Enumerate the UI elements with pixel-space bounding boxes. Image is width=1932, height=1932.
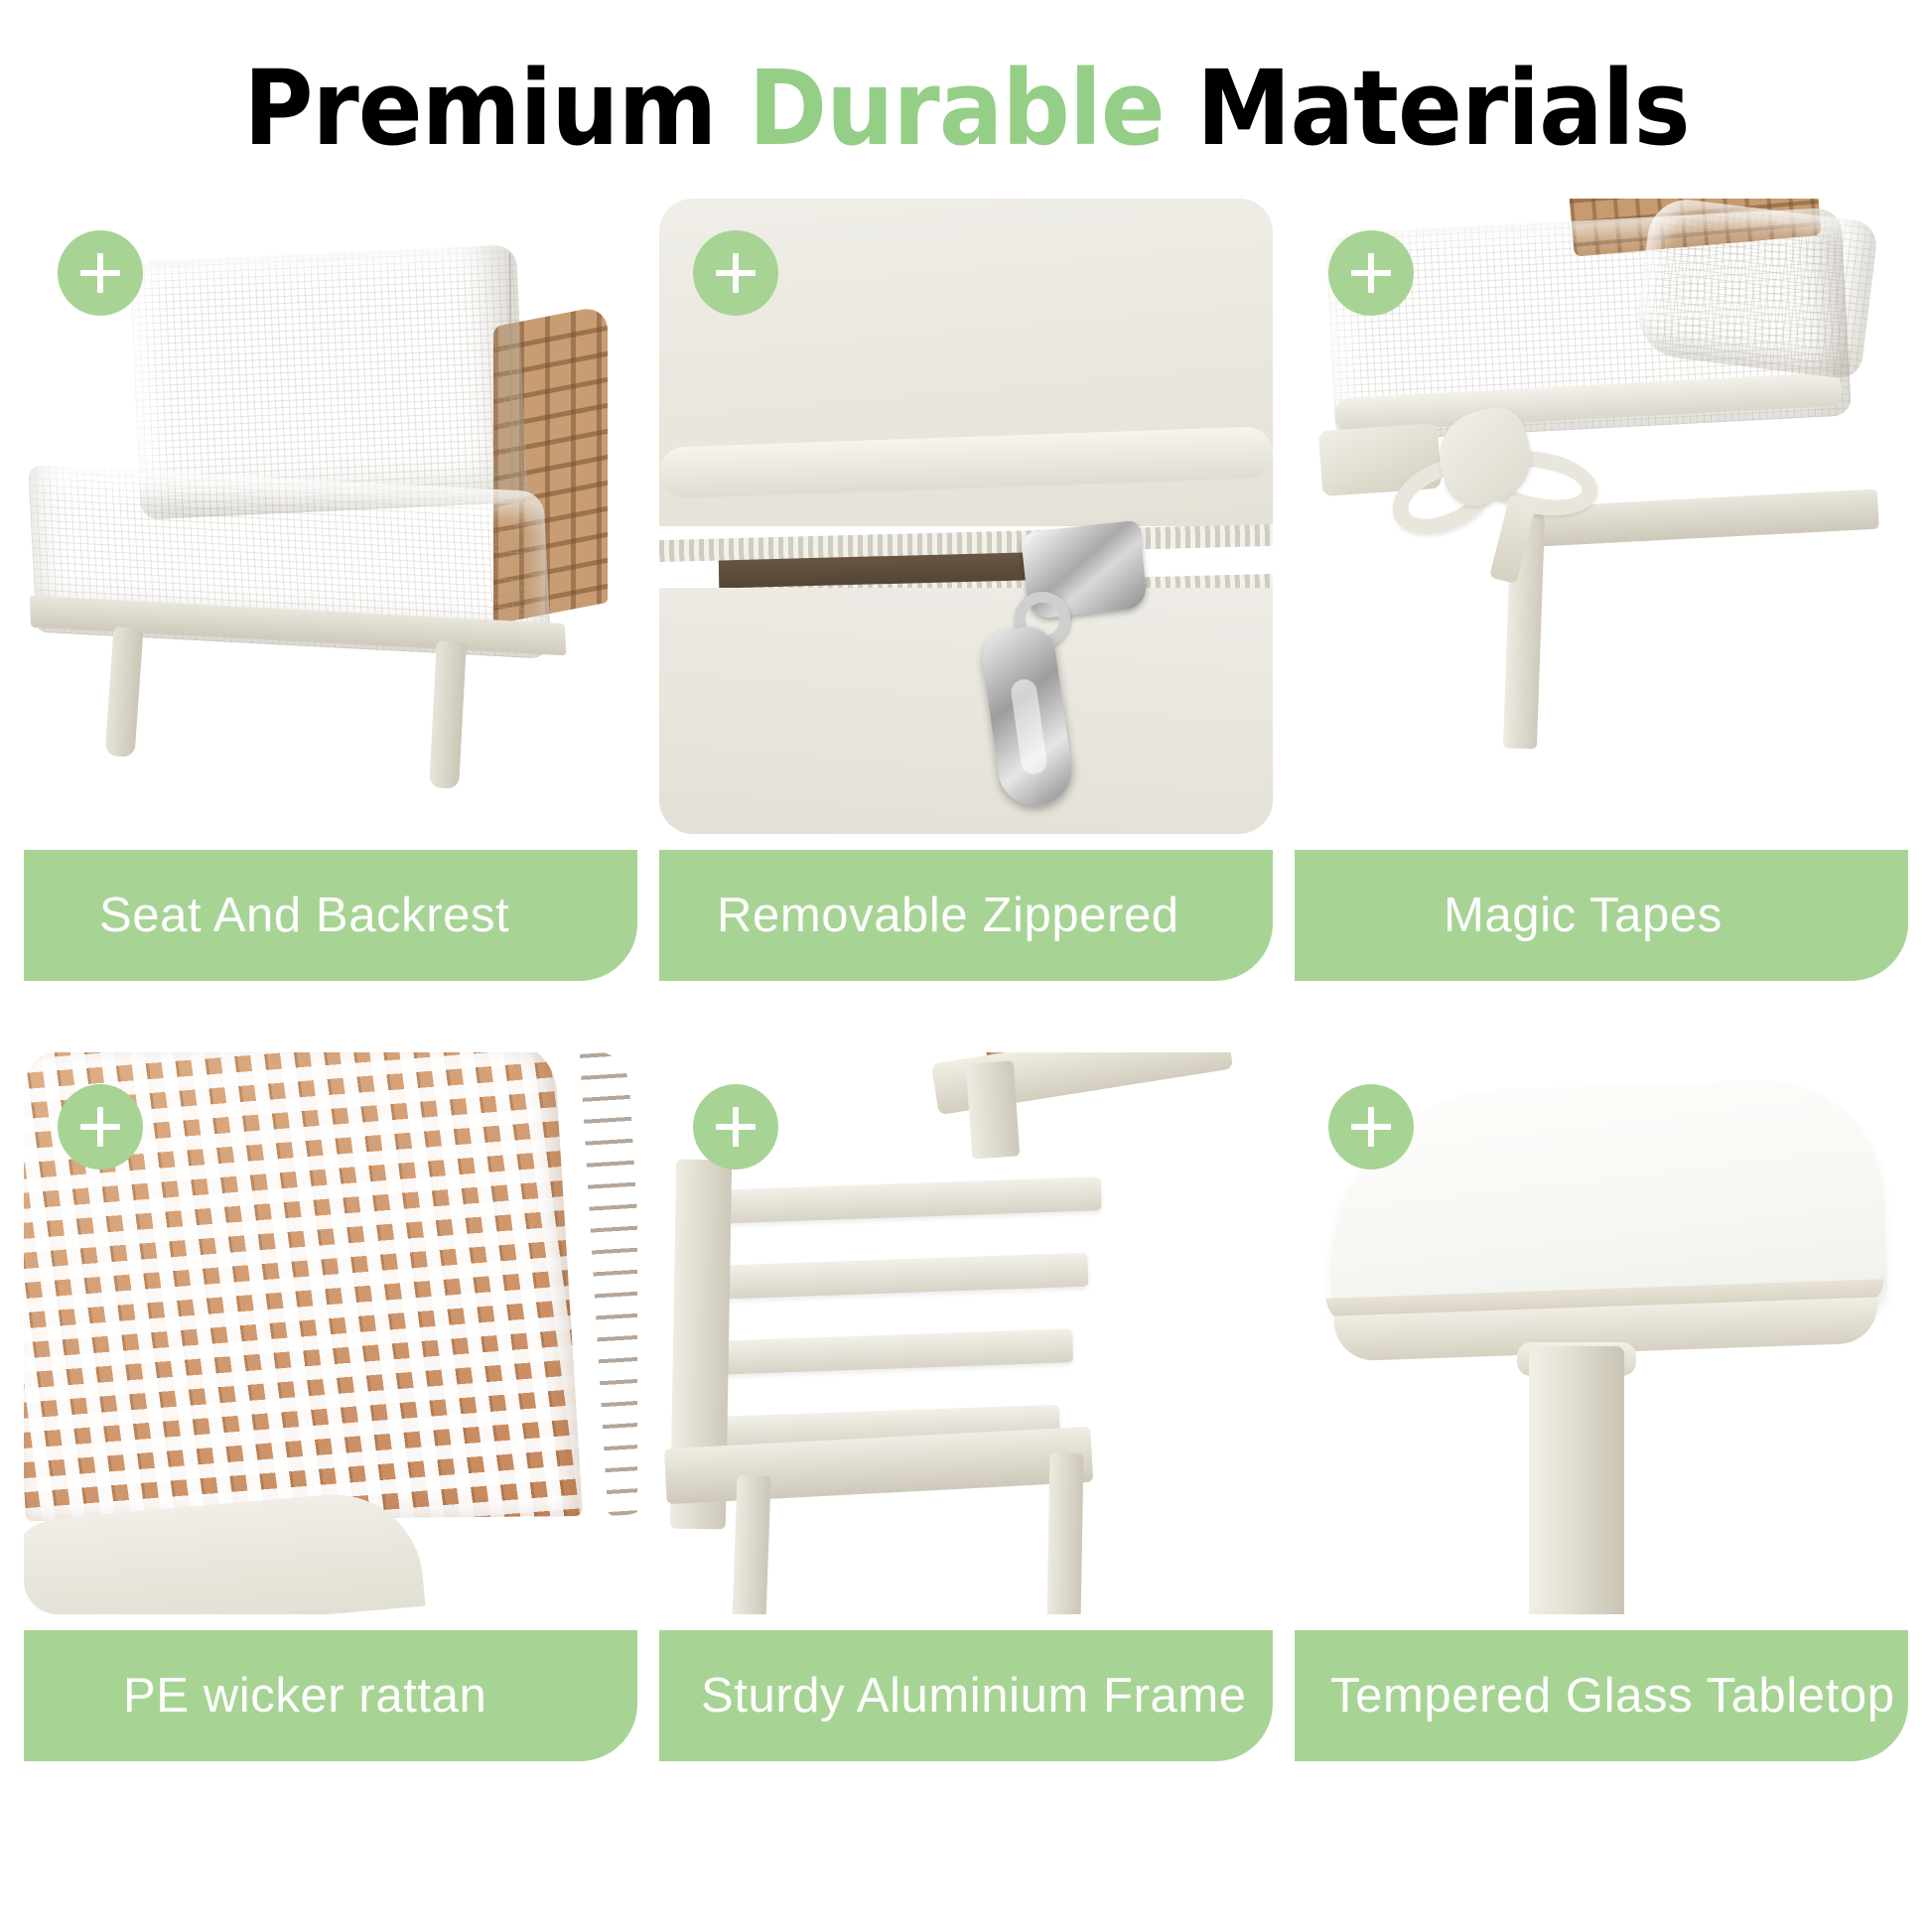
- frame-slat: [680, 1253, 1088, 1301]
- title-highlight: Durable: [748, 48, 1164, 169]
- wicker-edge-trim: [580, 1052, 637, 1516]
- caption-label: Removable Zippered: [717, 888, 1179, 943]
- cushion-seam: [508, 253, 513, 491]
- caption-label: Magic Tapes: [1444, 888, 1723, 943]
- plus-icon[interactable]: [693, 230, 778, 316]
- frame-slat: [684, 1176, 1102, 1225]
- frame-leg-right: [429, 640, 467, 788]
- photo-tempered-glass-tabletop[interactable]: [1295, 1052, 1908, 1614]
- caption-bar-seat-and-backrest: Seat And Backrest: [24, 850, 637, 981]
- photo-removable-zippered[interactable]: [659, 199, 1273, 834]
- caption-bar-magic-tapes: Magic Tapes: [1295, 850, 1908, 981]
- caption-bar-sturdy-aluminium-frame: Sturdy Aluminium Frame: [659, 1630, 1273, 1761]
- plus-icon[interactable]: [1328, 230, 1414, 316]
- caption-label: PE wicker rattan: [123, 1668, 486, 1724]
- title-part-2: Materials: [1164, 48, 1689, 169]
- caption-label: Seat And Backrest: [99, 888, 509, 943]
- feature-card-magic-tapes[interactable]: Magic Tapes: [1295, 199, 1908, 981]
- plus-icon[interactable]: [58, 1084, 143, 1170]
- caption-bar-pe-wicker-rattan: PE wicker rattan: [24, 1630, 637, 1761]
- frame-slat: [677, 1328, 1073, 1376]
- plus-icon[interactable]: [58, 230, 143, 316]
- photo-sturdy-aluminium-frame[interactable]: [659, 1052, 1273, 1614]
- photo-pe-wicker-rattan[interactable]: [24, 1052, 637, 1614]
- plus-icon[interactable]: [1328, 1084, 1414, 1170]
- feature-card-seat-and-backrest[interactable]: Seat And Backrest: [24, 199, 637, 981]
- caption-label: Sturdy Aluminium Frame: [701, 1668, 1247, 1724]
- frame-foot-left: [732, 1474, 770, 1614]
- page-title-text: Premium Durable Materials: [243, 48, 1689, 169]
- title-part-1: Premium: [243, 48, 748, 169]
- caption-bar-tempered-glass-tabletop: Tempered Glass Tabletop: [1295, 1630, 1908, 1761]
- page-title: Premium Durable Materials: [0, 0, 1932, 199]
- caption-bar-removable-zippered: Removable Zippered: [659, 850, 1273, 981]
- feature-card-pe-wicker-rattan[interactable]: PE wicker rattan: [24, 1052, 637, 1761]
- feature-grid: Seat And Backrest Removable Zippered: [0, 199, 1932, 1761]
- frame-foot-right: [1047, 1453, 1084, 1614]
- photo-seat-and-backrest[interactable]: [24, 199, 637, 834]
- backrest-pillow: [1633, 199, 1879, 380]
- feature-card-sturdy-aluminium-frame[interactable]: Sturdy Aluminium Frame: [659, 1052, 1273, 1761]
- plus-icon[interactable]: [693, 1084, 778, 1170]
- caption-label: Tempered Glass Tabletop: [1330, 1668, 1895, 1724]
- table-pedestal: [1529, 1346, 1624, 1614]
- frame-leg-left: [105, 626, 144, 758]
- photo-magic-tapes[interactable]: [1295, 199, 1908, 834]
- feature-card-tempered-glass-tabletop[interactable]: Tempered Glass Tabletop: [1295, 1052, 1908, 1761]
- fabric-lower: [659, 588, 1273, 834]
- feature-card-removable-zippered[interactable]: Removable Zippered: [659, 199, 1273, 981]
